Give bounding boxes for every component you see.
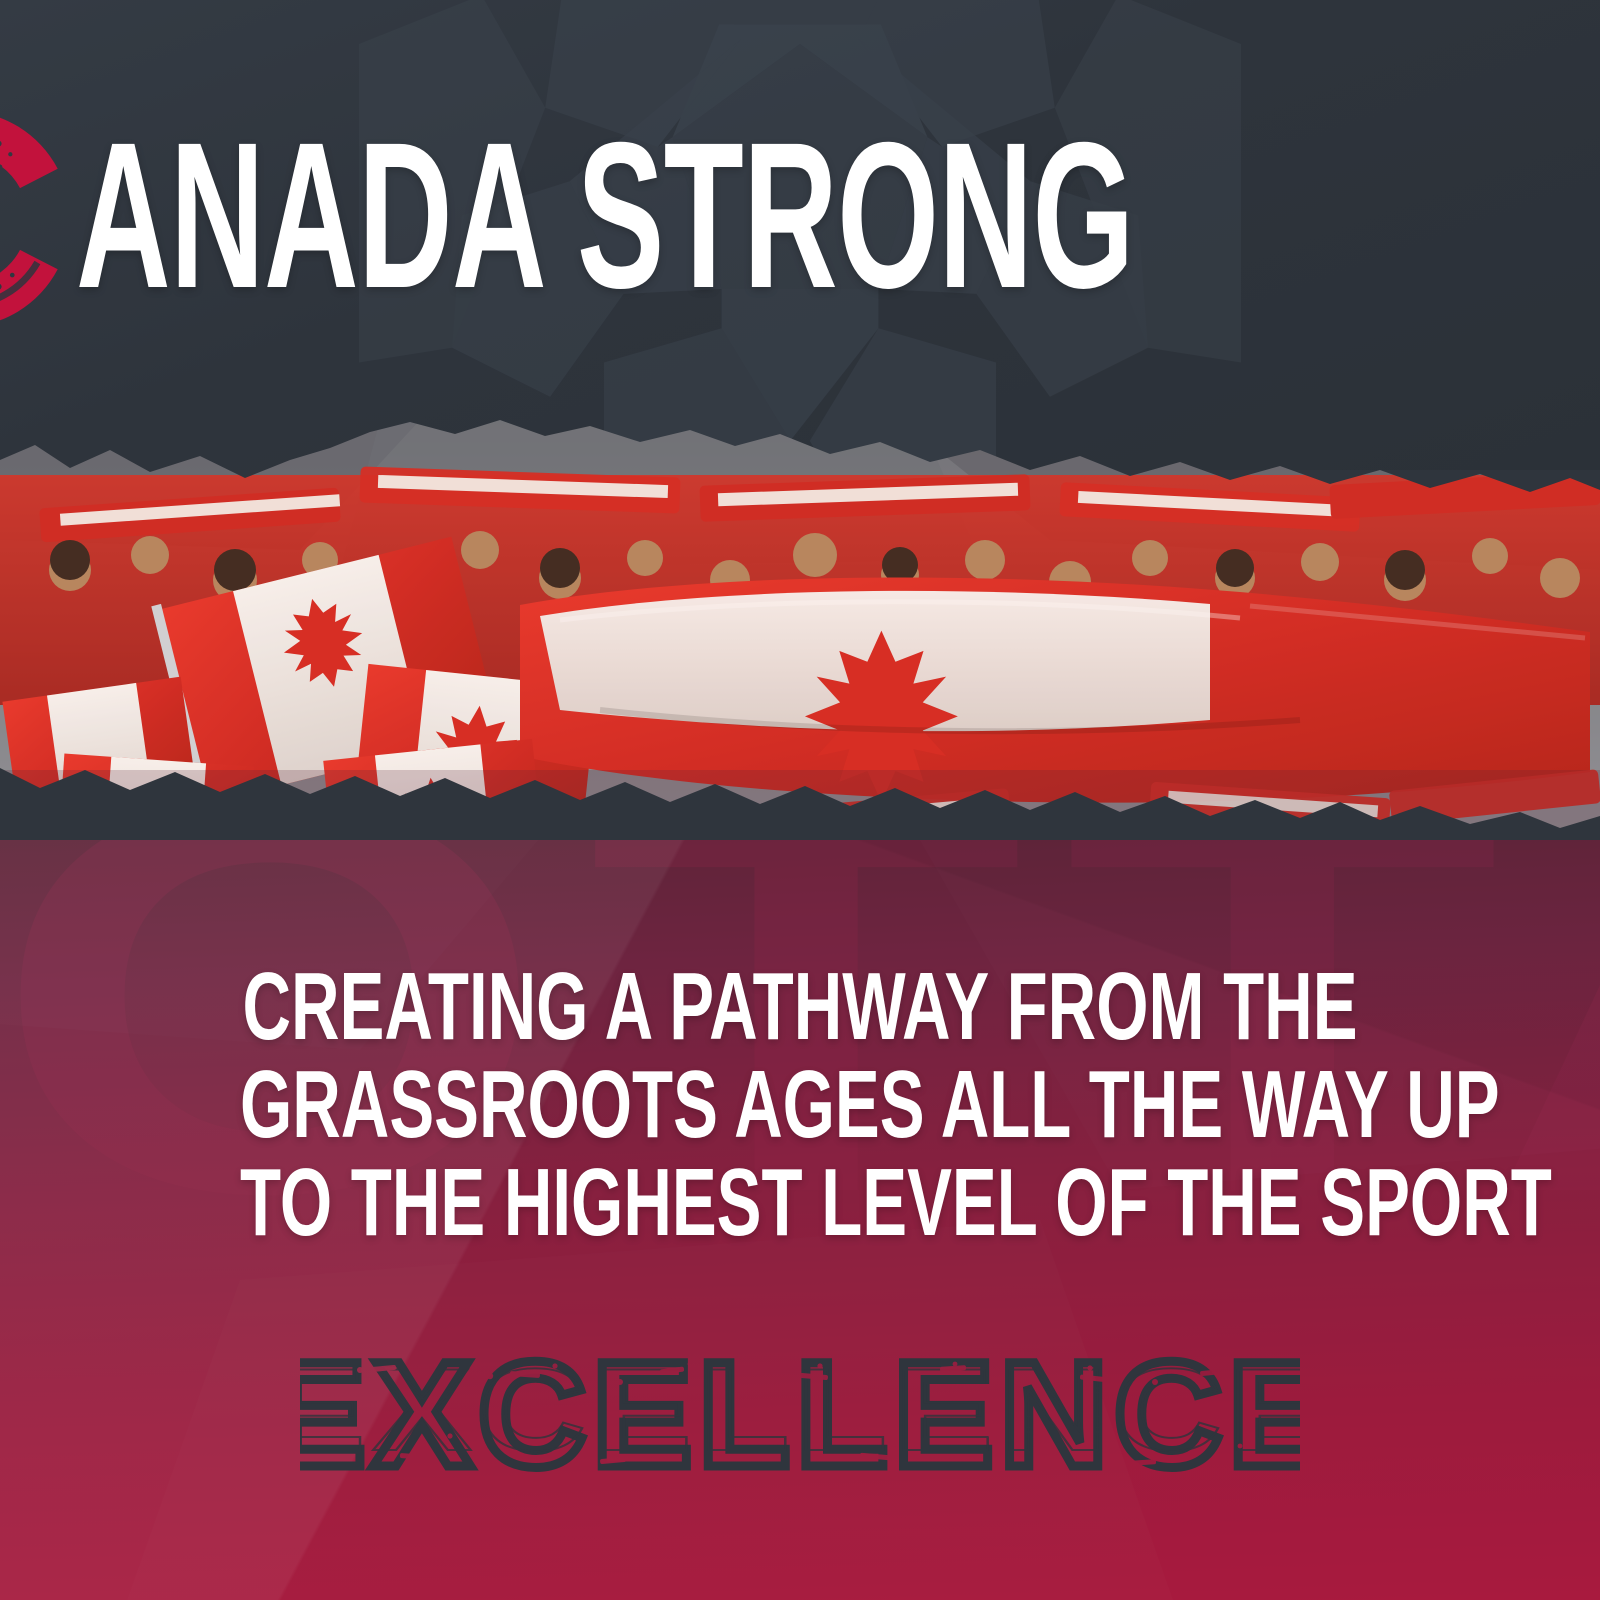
subhead-line-1: CREATING A PATHWAY FROM THE <box>240 958 1360 1056</box>
poster-canvas: OTTAWA <box>0 0 1600 1600</box>
headline-row: ANADA STRONG <box>0 92 1600 342</box>
page-title: ANADA STRONG <box>76 121 1134 312</box>
subhead-block: CREATING A PATHWAY FROM THE GRASSROOTS A… <box>0 958 1600 1252</box>
canada-c-stamp-logo-icon <box>0 103 78 335</box>
excellence-inner-outline-text: EXCELLENCE <box>300 1344 1300 1475</box>
subhead-line-2: GRASSROOTS AGES ALL THE WAY UP <box>240 1056 1360 1154</box>
crowd-photo <box>0 420 1600 870</box>
value-word-excellence: EXCELLENCE EXCELLENCE <box>0 1316 1600 1516</box>
crowd-photo-band <box>0 420 1600 870</box>
subhead-line-3: TO THE HIGHEST LEVEL OF THE SPORT <box>240 1154 1360 1252</box>
